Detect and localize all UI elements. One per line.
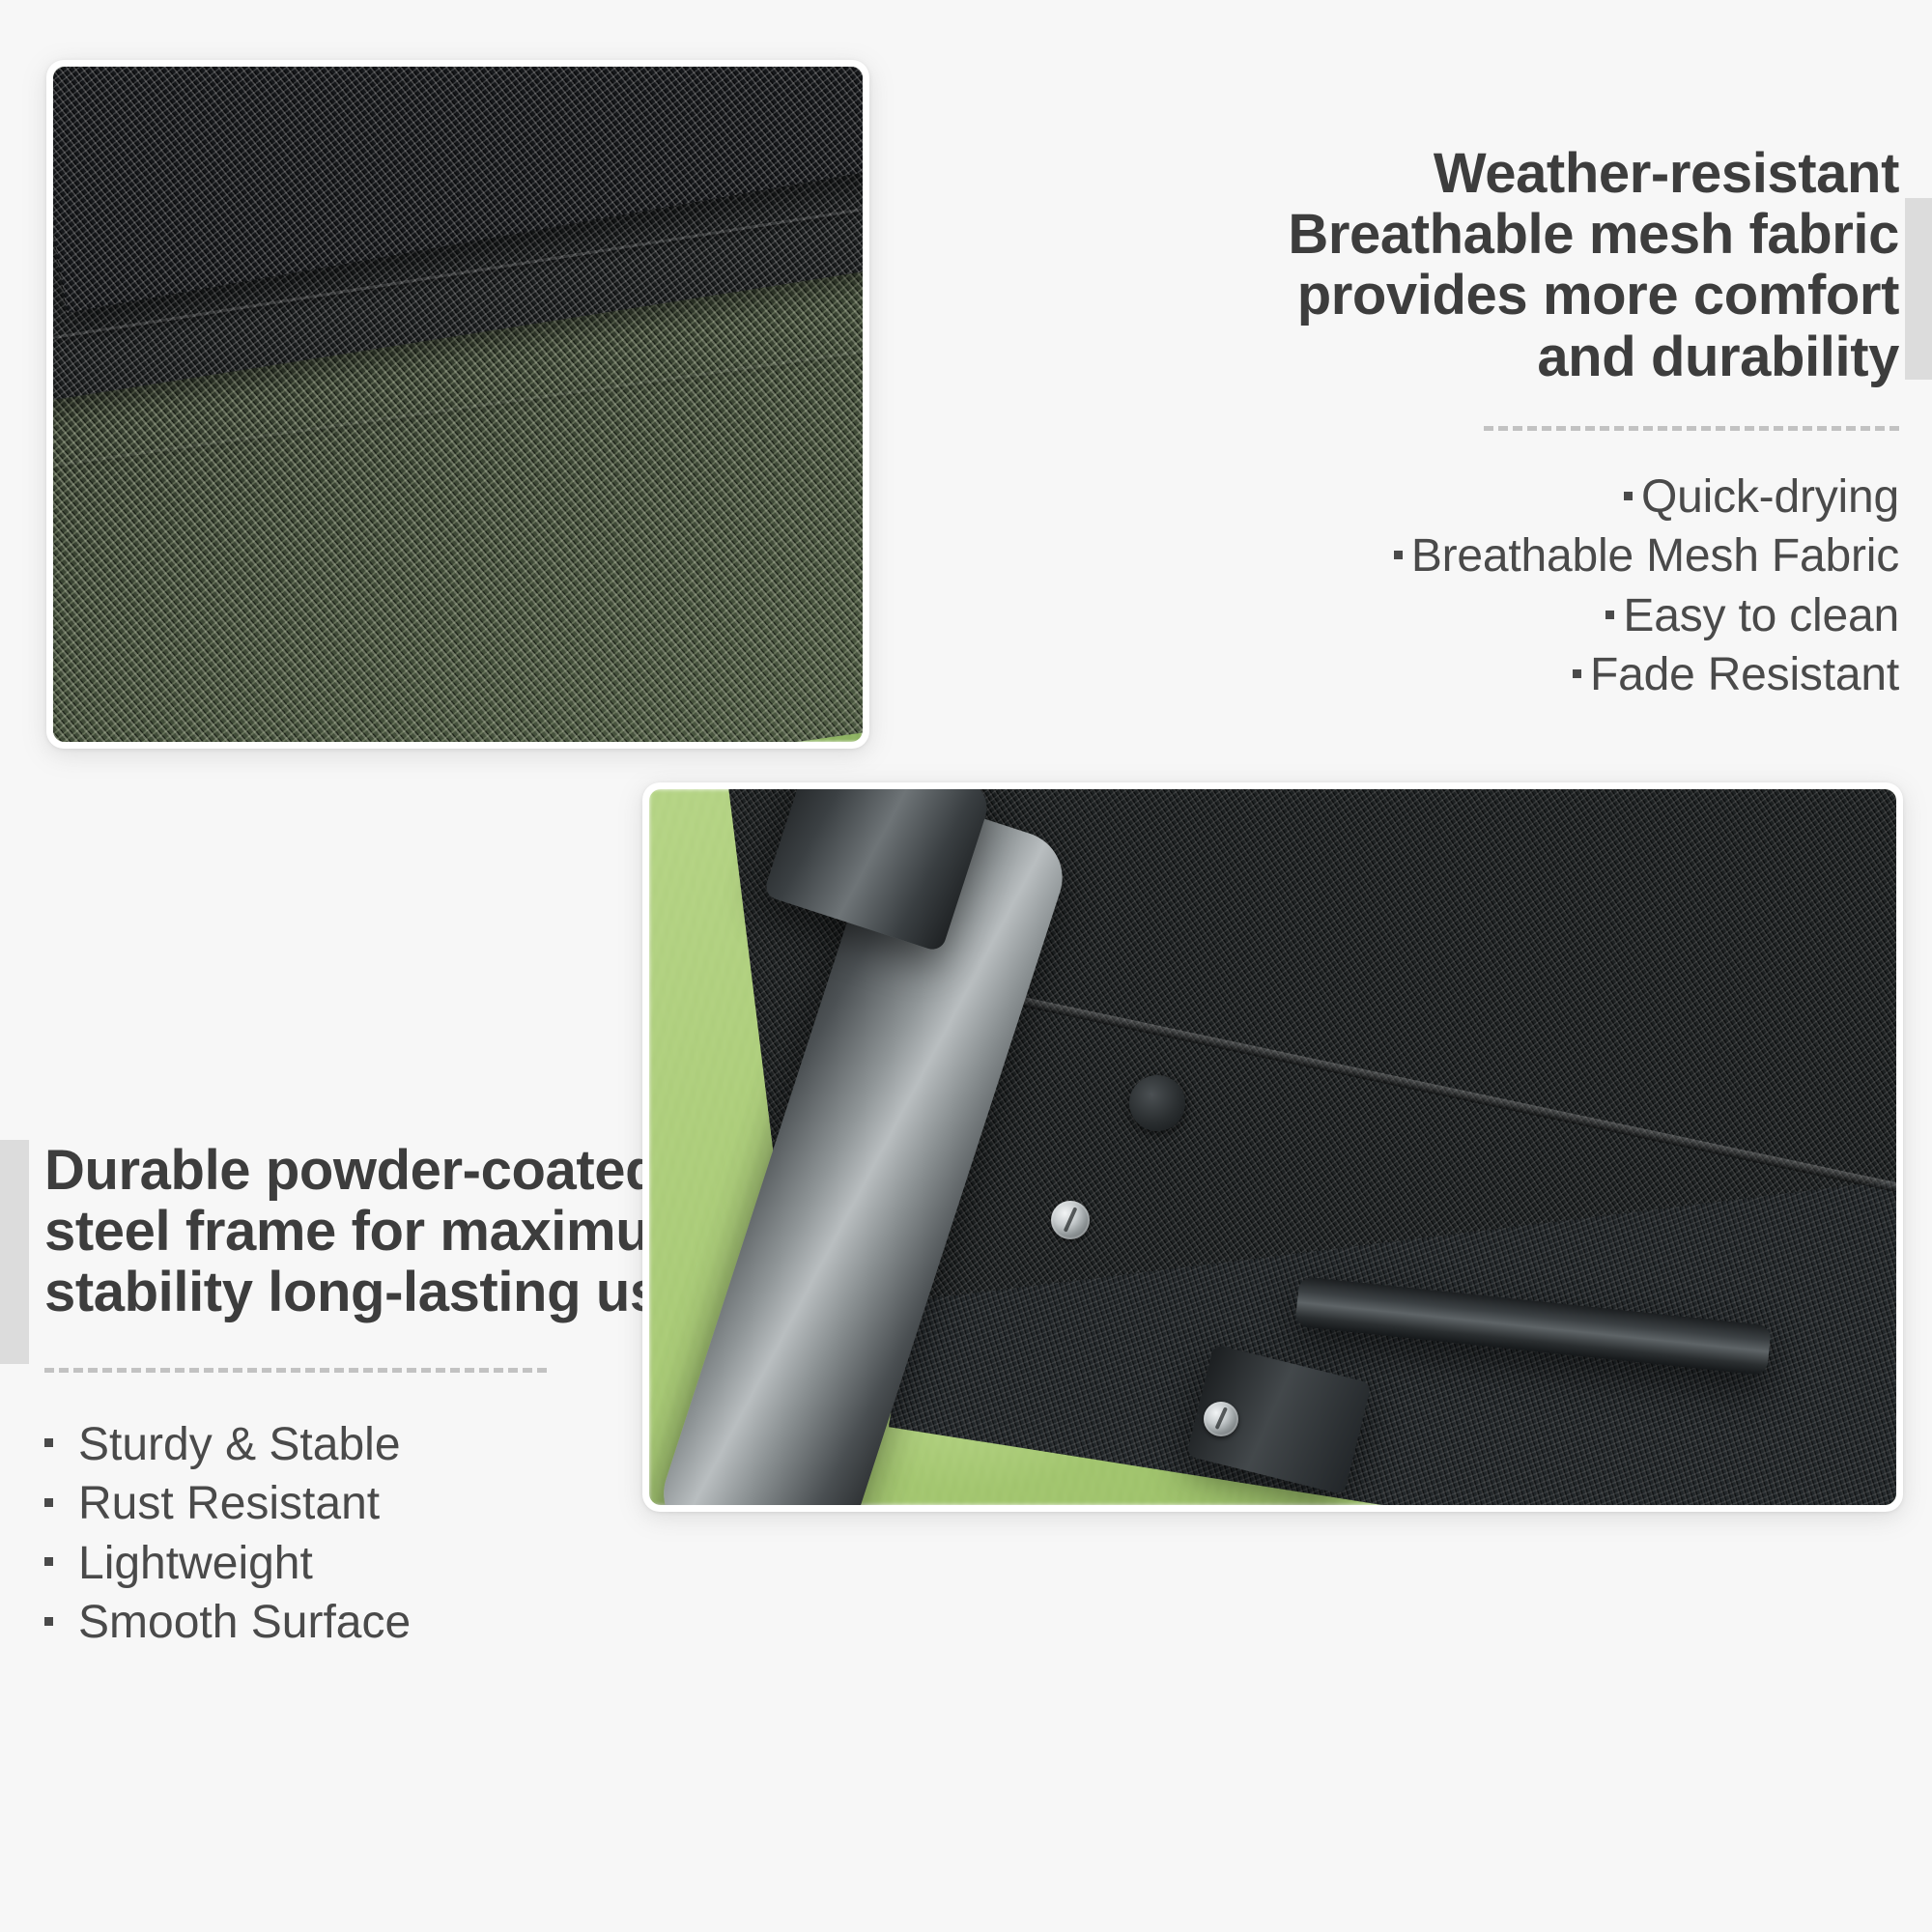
fabric-bullet-list: Quick-drying Breathable Mesh Fabric Easy…	[1165, 468, 1899, 705]
frame-photo	[649, 789, 1896, 1505]
list-item: Easy to clean	[1165, 586, 1899, 645]
frame-heading: Durable powder-coatedsteel frame for max…	[44, 1140, 721, 1323]
bullet-square-icon	[44, 1498, 53, 1507]
list-item: Lightweight	[44, 1534, 721, 1593]
frame-bullet-list: Sturdy & Stable Rust Resistant Lightweig…	[44, 1415, 721, 1653]
bullet-square-icon	[44, 1438, 53, 1447]
frame-screw-lower	[1204, 1402, 1238, 1436]
fabric-photo	[53, 67, 863, 742]
frame-screw-upper	[1051, 1201, 1090, 1239]
list-item: Sturdy & Stable	[44, 1415, 721, 1474]
edge-accent-tab-left	[0, 1140, 29, 1364]
bullet-square-icon	[44, 1557, 53, 1566]
fabric-heading: Weather-resistantBreathable mesh fabricp…	[1165, 143, 1899, 387]
frame-dashed-divider	[44, 1368, 547, 1373]
fabric-photo-card	[46, 60, 869, 749]
infographic-stage: Weather-resistantBreathable mesh fabricp…	[0, 0, 1932, 1932]
bullet-square-icon	[1394, 551, 1403, 559]
bullet-square-icon	[1624, 492, 1633, 500]
frame-photo-card	[642, 782, 1903, 1512]
bullet-square-icon	[1573, 669, 1581, 678]
frame-text-block: Durable powder-coatedsteel frame for max…	[44, 1140, 721, 1652]
fabric-dashed-divider	[1484, 426, 1899, 431]
list-item: Smooth Surface	[44, 1593, 721, 1652]
bullet-square-icon	[44, 1617, 53, 1626]
bullet-square-icon	[1605, 611, 1614, 619]
edge-accent-tab-right	[1905, 198, 1932, 380]
list-item: Quick-drying	[1165, 468, 1899, 526]
list-item: Breathable Mesh Fabric	[1165, 526, 1899, 585]
fabric-text-block: Weather-resistantBreathable mesh fabricp…	[1165, 143, 1899, 705]
list-item: Rust Resistant	[44, 1474, 721, 1533]
list-item: Fade Resistant	[1165, 645, 1899, 704]
